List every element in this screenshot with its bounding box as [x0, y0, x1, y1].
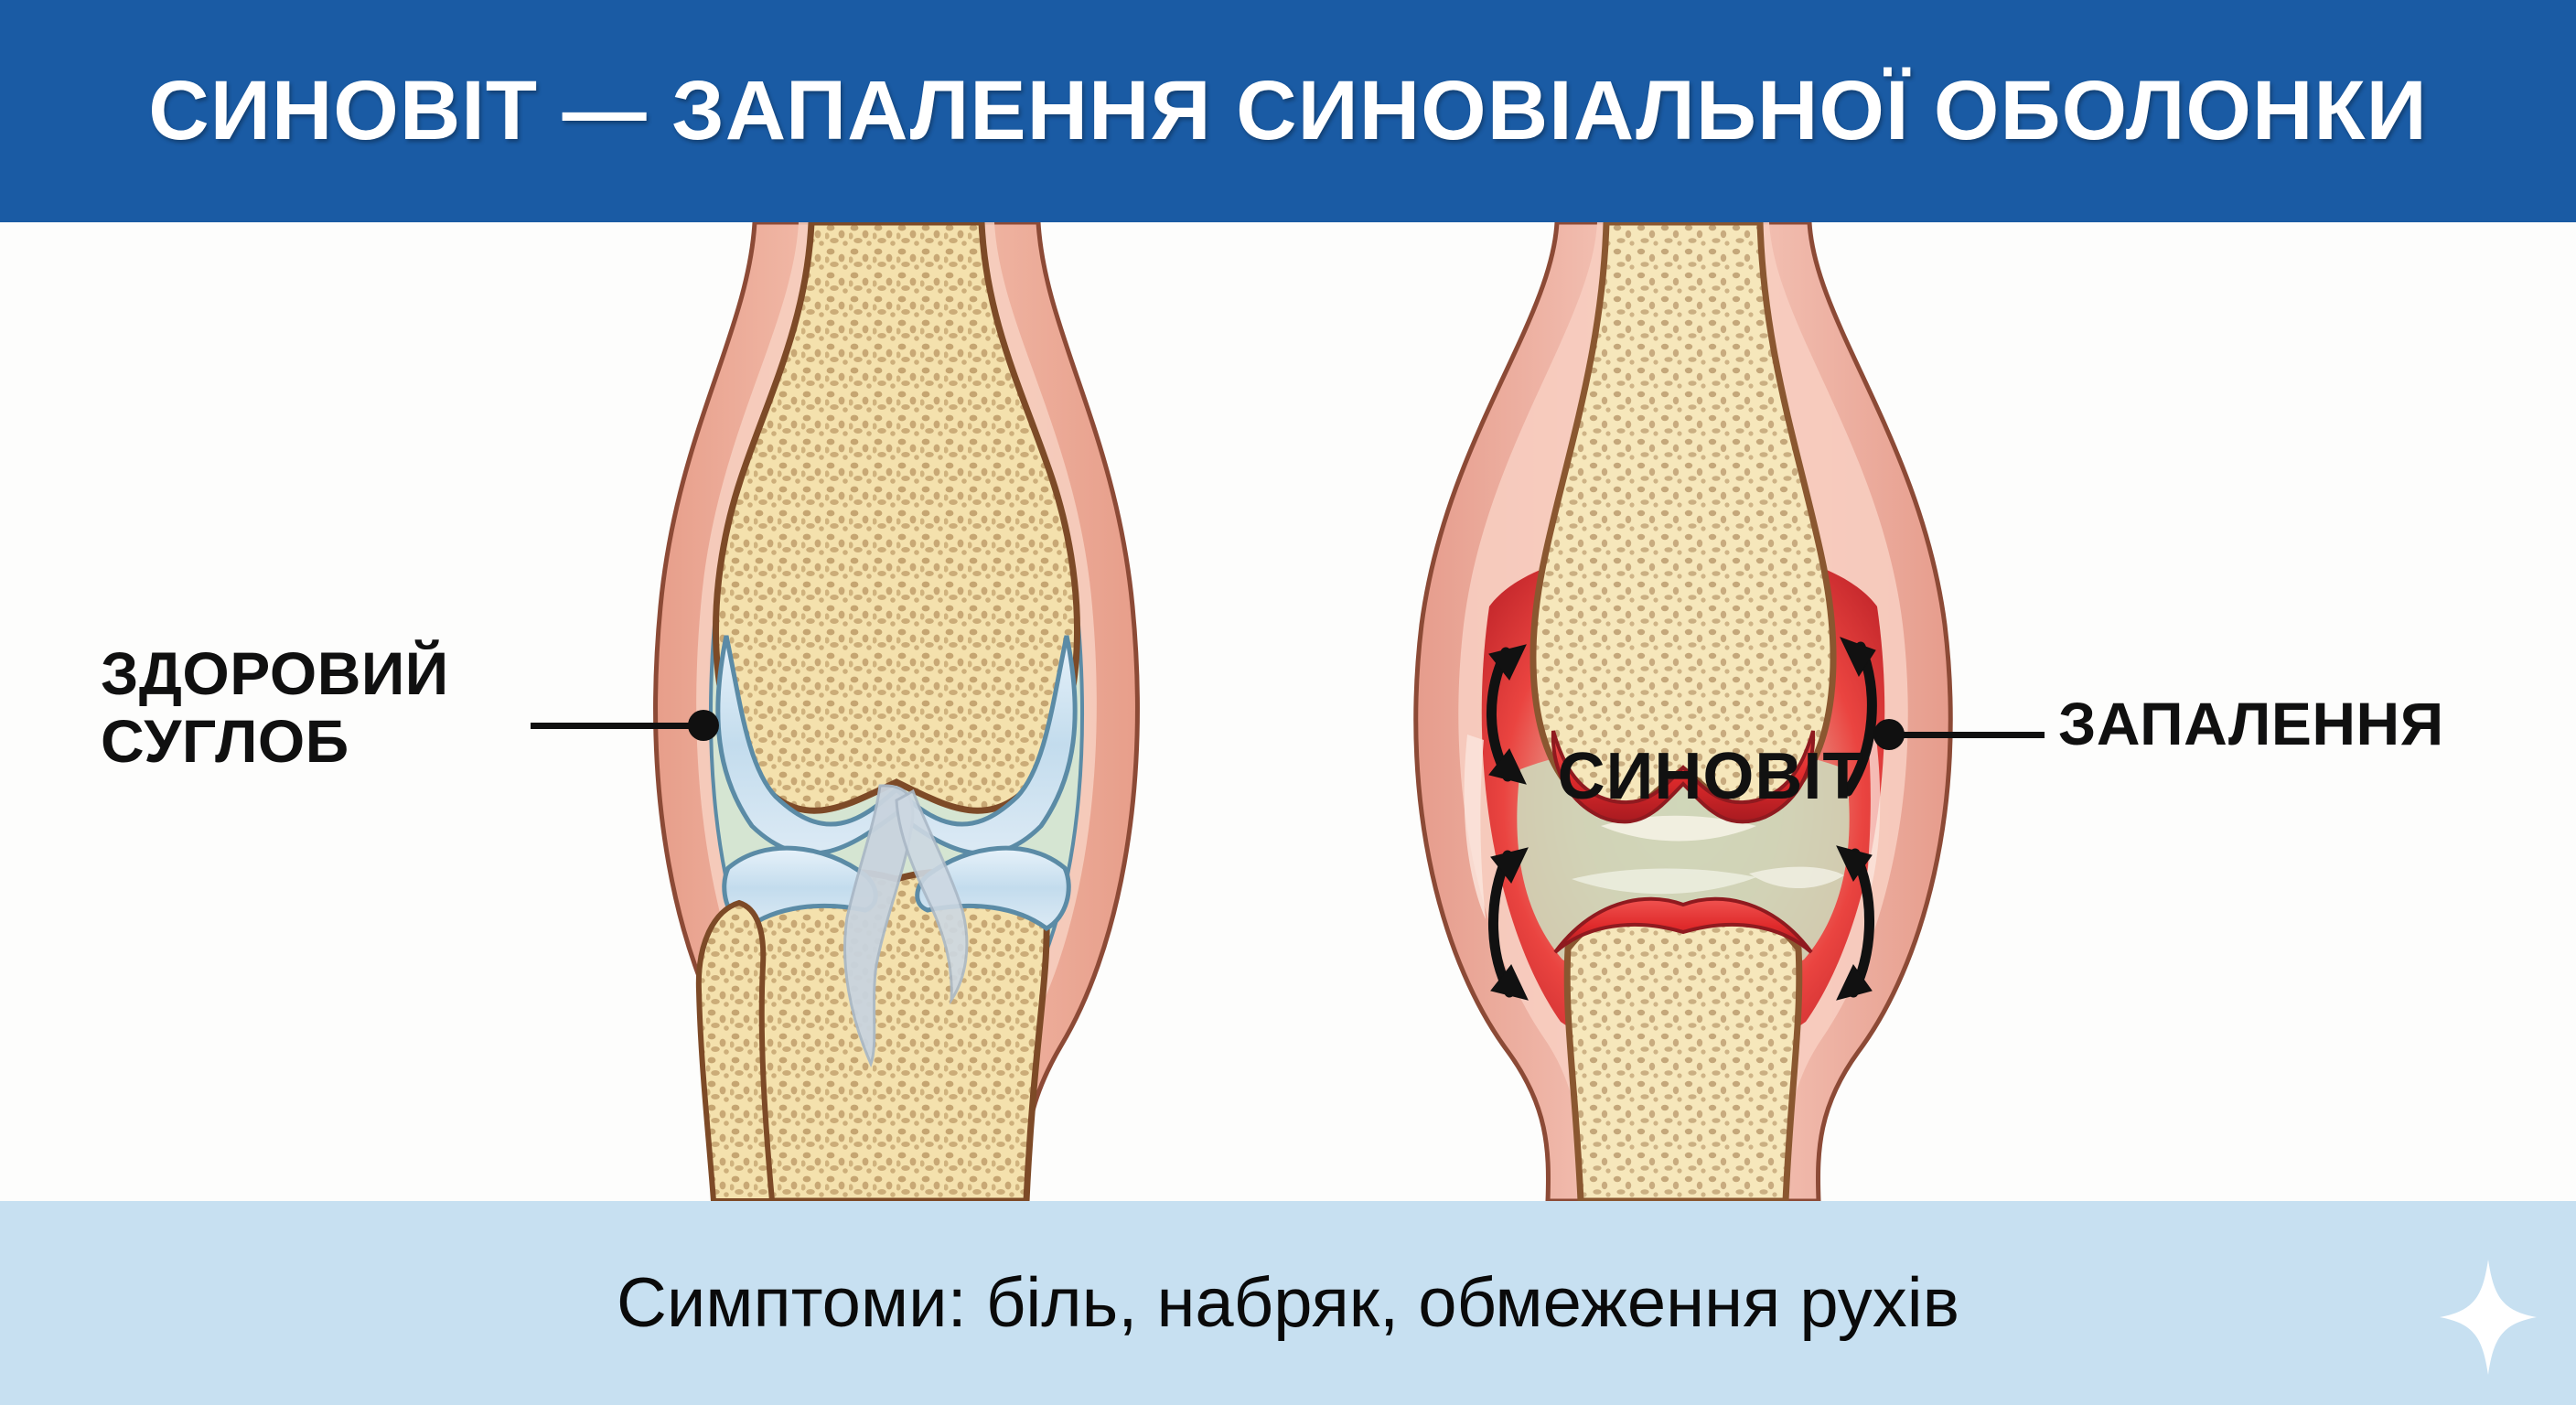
- symptoms-caption: Симптоми: біль, набряк, обмеження рухів: [0, 1201, 2576, 1405]
- page-title: СИНОВІТ — ЗАПАЛЕННЯ СИНОВІАЛЬНОЇ ОБОЛОНК…: [0, 0, 2576, 222]
- synovitis-inline-label: СИНОВІТ: [1519, 739, 1903, 814]
- tibia-bone: [1567, 905, 1799, 1201]
- header-band: СИНОВІТ — ЗАПАЛЕННЯ СИНОВІАЛЬНОЇ ОБОЛОНК…: [0, 0, 2576, 222]
- fibula-bone: [699, 903, 772, 1201]
- inflammation-label: ЗАПАЛЕННЯ: [2058, 691, 2444, 758]
- inflammation-leader-line: [1898, 732, 2045, 738]
- sparkle-diamond-icon: [2438, 1258, 2538, 1377]
- healthy-joint-label: ЗДОРОВИЙ СУГЛОБ: [101, 640, 449, 776]
- infographic-page: СИНОВІТ — ЗАПАЛЕННЯ СИНОВІАЛЬНОЇ ОБОЛОНК…: [0, 0, 2576, 1405]
- healthy-leader-dot: [688, 710, 719, 741]
- inflamed-knee-diagram: [1326, 222, 2040, 1201]
- healthy-leader-line: [531, 723, 704, 729]
- tibia-bone: [746, 872, 1046, 1201]
- footer-band: Симптоми: біль, набряк, обмеження рухів: [0, 1201, 2576, 1405]
- inflammation-leader-dot: [1873, 719, 1905, 750]
- healthy-knee-diagram: [540, 222, 1253, 1201]
